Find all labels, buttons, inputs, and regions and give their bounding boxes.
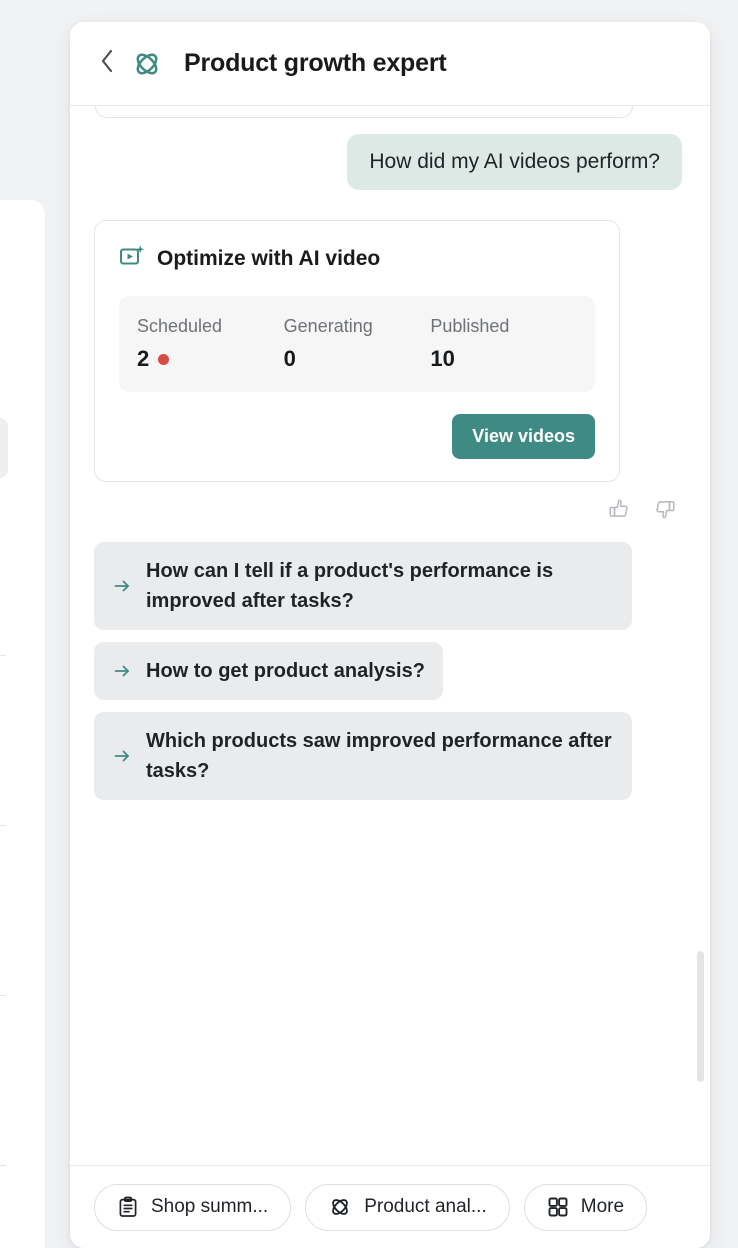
feedback-row [70,482,710,526]
suggestion-text: How to get product analysis? [146,656,425,686]
suggestion-list: How can I tell if a product's performanc… [94,542,710,800]
ai-video-icon [119,243,145,274]
back-button[interactable] [92,49,122,79]
suggestion-item[interactable]: How to get product analysis? [94,642,443,700]
more-button[interactable]: More [524,1184,647,1231]
stat-value-wrap: 0 [284,346,431,372]
background-divider [0,825,6,826]
product-analysis-button[interactable]: Product anal... [305,1184,510,1231]
card-actions: View videos [119,414,595,459]
pill-label: More [581,1196,624,1218]
pill-label: Shop summ... [151,1196,268,1218]
arrow-right-icon [112,746,132,766]
grid-icon [547,1196,569,1218]
stat-value-wrap: 2 [137,346,284,372]
stat-value: 0 [284,346,296,372]
alert-dot-icon [158,354,169,365]
shop-summary-button[interactable]: Shop summ... [94,1184,291,1231]
thumbs-down-button[interactable] [650,496,680,526]
bottom-toolbar: Shop summ... Product anal... More [70,1165,710,1248]
stat-value-wrap: 10 [430,346,577,372]
suggestion-text: Which products saw improved performance … [146,726,614,786]
thumbs-up-button[interactable] [604,496,634,526]
thumbs-up-icon [608,498,630,525]
view-videos-button[interactable]: View videos [452,414,595,459]
stat-label: Published [430,316,577,337]
ai-video-card: Optimize with AI video Scheduled 2 Gener… [94,220,620,482]
page-title: Product growth expert [184,49,447,78]
chevron-left-icon [99,48,115,79]
stat-value: 2 [137,346,149,372]
card-header: Optimize with AI video [119,243,595,274]
chat-header: Product growth expert [70,22,710,106]
stat-value: 10 [430,346,454,372]
chat-window: Product growth expert How did my AI vide… [70,22,710,1248]
suggestion-item[interactable]: How can I tell if a product's performanc… [94,542,632,630]
background-divider [0,995,6,996]
background-divider [0,1165,6,1166]
card-title: Optimize with AI video [157,247,380,271]
arrow-right-icon [112,661,132,681]
scrollbar-thumb[interactable] [697,951,704,1082]
previous-message-card [95,106,633,118]
stat-label: Scheduled [137,316,284,337]
conversation-area: How did my AI videos perform? Optimize w… [70,106,710,1165]
suggestion-item[interactable]: Which products saw improved performance … [94,712,632,800]
scrollbar-track[interactable] [696,106,704,1165]
atom-icon [328,1195,352,1219]
user-message-bubble: How did my AI videos perform? [347,134,682,190]
pill-label: Product anal... [364,1196,487,1218]
thumbs-down-icon [654,498,676,525]
background-chip [0,418,8,478]
suggestion-text: How can I tell if a product's performanc… [146,556,614,616]
stat-scheduled: Scheduled 2 [137,316,284,372]
stat-published: Published 10 [430,316,577,372]
user-message-row: How did my AI videos perform? [70,106,710,190]
stats-panel: Scheduled 2 Generating 0 Published 10 [119,296,595,392]
arrow-right-icon [112,576,132,596]
background-divider [0,655,6,656]
background-app-panel [0,200,45,1248]
clipboard-icon [117,1196,139,1218]
stat-generating: Generating 0 [284,316,431,372]
atom-icon [130,47,164,81]
stat-label: Generating [284,316,431,337]
